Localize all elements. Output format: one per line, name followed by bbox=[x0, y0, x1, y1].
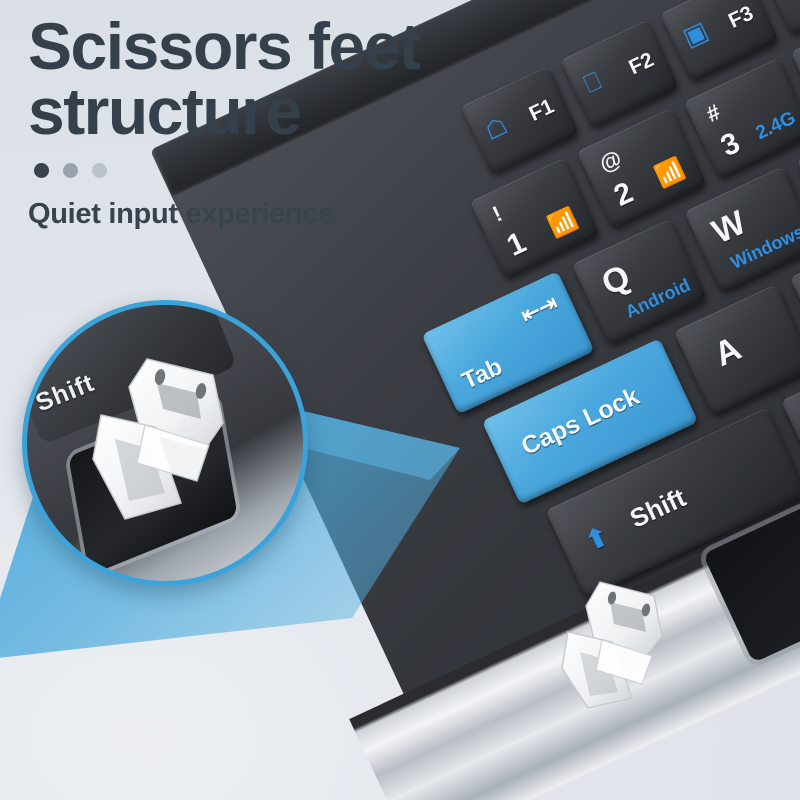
headline-line-2: structure bbox=[28, 79, 419, 144]
pagination-dot-2[interactable] bbox=[63, 163, 78, 178]
key-2-shifted: @ bbox=[595, 145, 625, 178]
search-icon: ⚲ bbox=[780, 0, 800, 4]
key-3-label: 3 bbox=[716, 126, 745, 164]
shift-arrow-icon: ⬆ bbox=[581, 520, 614, 557]
key-f2-label: F2 bbox=[625, 48, 657, 80]
product-banner: ☖ F1 ⎕ F2 ▣ F3 ⚲ F4 🗄 F5 🔒 bbox=[0, 0, 800, 800]
pagination-dots[interactable] bbox=[34, 163, 419, 178]
headline-line-1: Scissors feet bbox=[28, 9, 419, 83]
key-a-label: A bbox=[709, 329, 748, 375]
magnifier-inset: Shift bbox=[22, 300, 308, 586]
key-q-label: Q bbox=[596, 257, 636, 304]
headline-block: Scissors feet structure Quiet input expe… bbox=[28, 14, 419, 231]
key-3-shifted: # bbox=[702, 99, 724, 128]
bluetooth-icon: 📶 bbox=[651, 155, 688, 192]
pagination-dot-1[interactable] bbox=[34, 163, 49, 178]
key-f3-label: F3 bbox=[725, 2, 757, 34]
key-tab-label: Tab bbox=[458, 353, 507, 396]
window-icon: ⎕ bbox=[581, 69, 605, 98]
key-2-label: 2 bbox=[609, 176, 638, 214]
bluetooth-icon: 📶 bbox=[544, 204, 581, 241]
scissor-mechanism-icon bbox=[85, 353, 255, 538]
key-1-label: 1 bbox=[502, 226, 531, 264]
tab-arrows-icon: ⇤⇥ bbox=[517, 290, 561, 329]
scissor-mechanism-icon bbox=[556, 580, 684, 710]
app-icon: ▣ bbox=[679, 17, 712, 51]
page-title: Scissors feet structure bbox=[28, 14, 419, 143]
key-shift-label: Shift bbox=[625, 482, 690, 535]
key-3-wireless-label: 2.4G bbox=[753, 108, 800, 145]
key-f1-label: F1 bbox=[526, 95, 558, 127]
home-icon: ☖ bbox=[482, 114, 512, 145]
pagination-dot-3[interactable] bbox=[92, 163, 107, 178]
subtitle: Quiet input experience bbox=[28, 198, 419, 231]
key-1-shifted: ! bbox=[489, 201, 507, 228]
